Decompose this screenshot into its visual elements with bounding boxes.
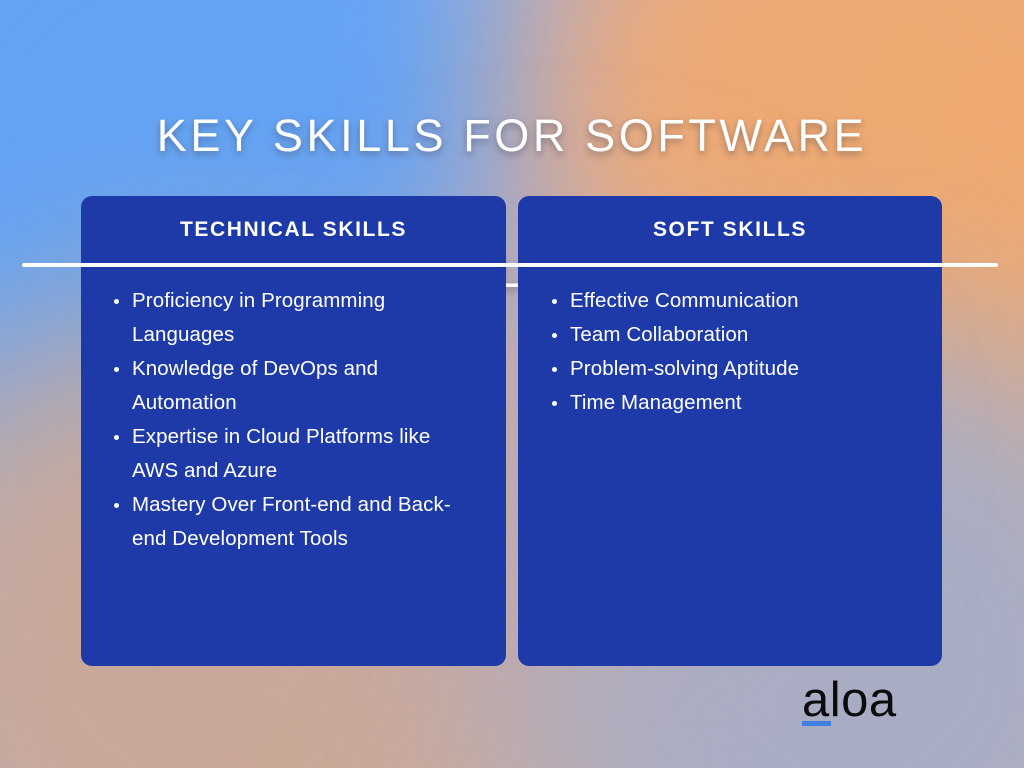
divider-rule	[22, 263, 998, 267]
aloa-logo: aloa	[802, 672, 897, 728]
card-heading-technical-skills: TECHNICAL SKILLS	[81, 218, 506, 242]
list-technical-skills: Proficiency in Programming Languages Kno…	[110, 284, 480, 556]
list-item: Problem-solving Aptitude	[548, 352, 928, 386]
infographic-canvas: KEY SKILLS FOR SOFTWARE DEVELOPER TECHNI…	[0, 0, 1024, 768]
list-item: Team Collaboration	[548, 318, 928, 352]
list-item: Expertise in Cloud Platforms like AWS an…	[110, 420, 480, 488]
list-item: Knowledge of DevOps and Automation	[110, 352, 480, 420]
page-title-line-1: KEY SKILLS FOR SOFTWARE	[0, 102, 1024, 170]
aloa-logo-accent-letter: a	[802, 672, 830, 728]
list-item: Proficiency in Programming Languages	[110, 284, 480, 352]
list-soft-skills: Effective Communication Team Collaborati…	[548, 284, 928, 420]
card-heading-soft-skills: SOFT SKILLS	[518, 218, 942, 242]
aloa-logo-text: loa	[830, 673, 897, 727]
list-item: Effective Communication	[548, 284, 928, 318]
list-item: Time Management	[548, 386, 928, 420]
list-item: Mastery Over Front-end and Back-end Deve…	[110, 488, 480, 556]
